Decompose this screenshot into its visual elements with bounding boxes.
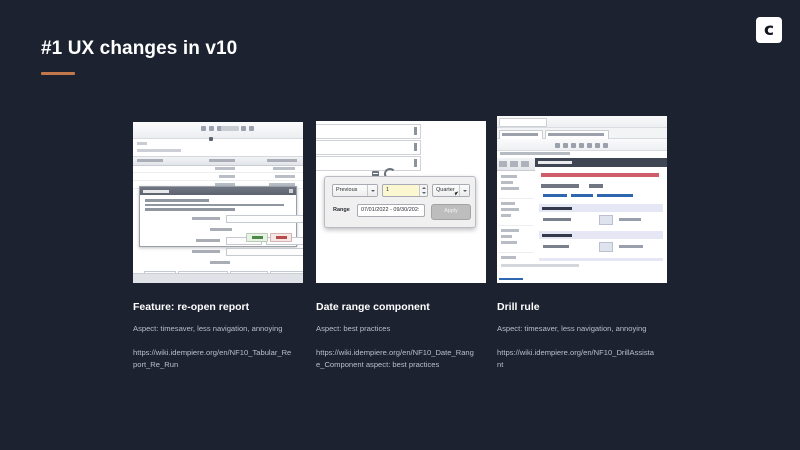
panel-footer xyxy=(497,261,667,283)
table-row xyxy=(133,165,303,173)
slide-root: #1 UX changes in v10 c xyxy=(0,0,800,450)
search-input[interactable] xyxy=(499,118,547,127)
page-title: #1 UX changes in v10 xyxy=(41,38,237,60)
status-field[interactable] xyxy=(226,248,303,256)
section-item-label xyxy=(543,245,569,248)
amount-value: 1 xyxy=(386,187,389,193)
dialog-description xyxy=(145,199,290,213)
ok-button[interactable] xyxy=(246,233,268,242)
breadcrumb-top xyxy=(137,142,147,145)
card-url[interactable]: https://wiki.idempiere.org/en/NF10_Drill… xyxy=(497,347,657,371)
table-row xyxy=(133,173,303,181)
mode-select-value: Previous xyxy=(336,187,357,193)
records-grid[interactable] xyxy=(497,158,536,261)
field-label xyxy=(192,250,220,253)
quick-link-row[interactable] xyxy=(543,194,659,198)
range-value-field[interactable]: 07/01/2022 - 09/30/202: xyxy=(357,204,425,217)
chevron-down-icon[interactable] xyxy=(459,185,469,196)
dialog-titlebar xyxy=(140,187,296,195)
form-input-row[interactable] xyxy=(316,140,421,155)
dialog-close-icon xyxy=(289,189,293,193)
field-label xyxy=(192,217,220,220)
checkbox-label xyxy=(210,261,230,264)
section-item-link[interactable] xyxy=(619,218,641,221)
section-header-open-orders xyxy=(539,204,663,212)
footer-progress xyxy=(501,264,579,267)
section-header-order-detail xyxy=(539,231,663,239)
section-item-label xyxy=(543,218,571,221)
toolbar-icon-group xyxy=(555,143,608,148)
panel-titlebar xyxy=(535,158,667,167)
drill-assistant-panel[interactable] xyxy=(535,158,667,261)
record-marker xyxy=(209,137,213,141)
card-aspect: Aspect: best practices xyxy=(316,323,466,335)
card-feature-reopen-report: Feature: re-open report Aspect: timesave… xyxy=(133,116,303,371)
grid-row[interactable] xyxy=(498,226,534,253)
card-url[interactable]: https://wiki.idempiere.org/en/NF10_Date_… xyxy=(316,347,476,371)
section-item-preview[interactable] xyxy=(599,242,613,252)
screenshot-thumbnail-report-window[interactable] xyxy=(133,116,303,283)
card-title: Date range component xyxy=(316,301,486,315)
stepper-arrows-icon[interactable] xyxy=(419,185,427,196)
screenshot-thumbnail-drill-assistant[interactable] xyxy=(497,116,667,283)
unit-select-value: Quarter xyxy=(436,187,455,193)
card-aspect: Aspect: timesaver, less navigation, anno… xyxy=(133,323,283,335)
date-range-mode-select[interactable]: Previous xyxy=(332,184,378,197)
card-title: Feature: re-open report xyxy=(133,301,303,315)
apply-button[interactable]: Apply xyxy=(431,204,471,220)
toolbar-dropdown xyxy=(221,126,239,131)
drill-context-heading xyxy=(541,173,659,177)
tab-item[interactable] xyxy=(499,130,543,140)
checkbox-label xyxy=(210,228,232,231)
grid-row[interactable] xyxy=(498,172,534,199)
chevron-down-icon[interactable] xyxy=(367,185,377,196)
brand-logo: c xyxy=(756,17,782,43)
screenshot-thumbnail-date-range[interactable]: Previous 1 Quarter Range 07/01/2022 - 09… xyxy=(316,116,486,283)
form-input-row[interactable] xyxy=(316,124,421,139)
card-drill-rule: Drill rule Aspect: timesaver, less navig… xyxy=(497,116,667,371)
report-parameters-dialog[interactable] xyxy=(139,186,297,247)
section-item-preview[interactable] xyxy=(599,215,613,225)
date-range-popup[interactable]: Previous 1 Quarter Range 07/01/2022 - 09… xyxy=(324,176,476,228)
card-date-range-component: Previous 1 Quarter Range 07/01/2022 - 09… xyxy=(316,116,486,371)
footer-link[interactable] xyxy=(499,278,523,281)
brand-logo-letter: c xyxy=(764,22,774,39)
business-partner-field[interactable] xyxy=(226,215,303,223)
card-title: Drill rule xyxy=(497,301,667,315)
form-input-row[interactable] xyxy=(316,156,421,171)
date-range-unit-select[interactable]: Quarter xyxy=(432,184,470,197)
tab-item-active[interactable] xyxy=(545,130,609,140)
date-range-amount-stepper[interactable]: 1 xyxy=(382,184,428,197)
window-titlebar xyxy=(316,116,486,121)
grid-header-row xyxy=(497,158,535,171)
section-item-link[interactable] xyxy=(619,245,643,248)
range-label: Range xyxy=(333,207,350,213)
field-label xyxy=(196,239,220,242)
breadcrumb-sub xyxy=(137,149,181,152)
window-statusbar xyxy=(133,273,303,283)
card-url[interactable]: https://wiki.idempiere.org/en/NF10_Tabul… xyxy=(133,347,293,371)
grid-row[interactable] xyxy=(498,199,534,226)
breadcrumb xyxy=(500,152,570,155)
cancel-button[interactable] xyxy=(270,233,292,242)
panel-tab-strip xyxy=(541,183,659,189)
card-aspect: Aspect: timesaver, less navigation, anno… xyxy=(497,323,647,335)
tab-strip xyxy=(497,128,667,139)
title-underline-accent xyxy=(41,72,75,75)
